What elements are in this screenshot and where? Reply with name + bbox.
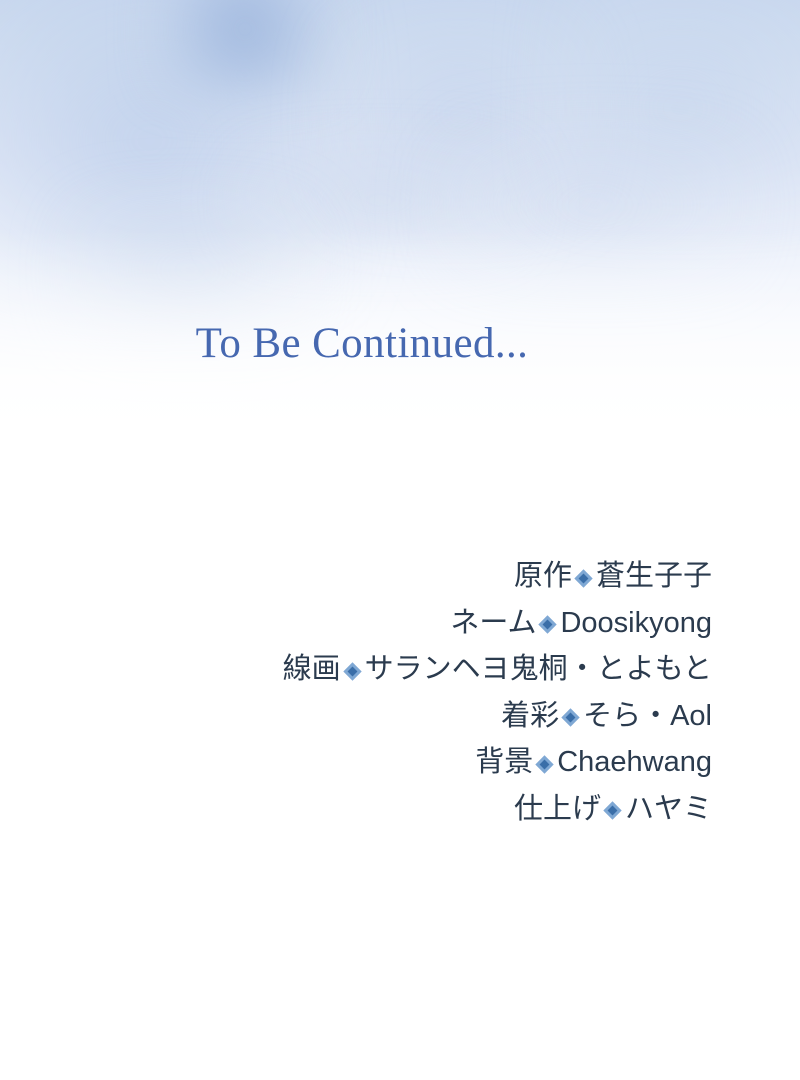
credit-role: 背景 (475, 746, 533, 778)
diamond-separator-icon (602, 795, 624, 824)
credit-row: ネームDoosikyong (0, 600, 712, 647)
diamond-separator-icon (573, 563, 595, 592)
credit-role: ネーム (450, 607, 536, 639)
credit-row: 原作蒼生子子 (0, 553, 712, 600)
credit-role: 着彩 (501, 700, 559, 732)
cloud-blob-upper-left (150, 0, 340, 95)
webtoon-end-card: To Be Continued... 原作蒼生子子 ネームDoosikyong … (0, 0, 800, 1080)
diamond-separator-icon (534, 749, 556, 778)
credit-name: Doosikyong (560, 607, 712, 639)
to-be-continued-block: To Be Continued... (0, 322, 800, 365)
credit-name: サランヘヨ鬼桐・とよもと (365, 653, 712, 685)
diamond-separator-icon (537, 609, 559, 638)
credit-row: 仕上げハヤミ (0, 786, 712, 833)
credit-role: 線画 (283, 653, 341, 685)
diamond-separator-icon (560, 702, 582, 731)
credits-block: 原作蒼生子子 ネームDoosikyong 線画サランヘヨ鬼桐・とよもと 着彩そら… (0, 553, 712, 832)
diamond-separator-icon (342, 656, 364, 685)
credit-row: 線画サランヘヨ鬼桐・とよもと (0, 646, 712, 693)
credit-name: そら・Aol (583, 700, 712, 732)
credit-row: 背景Chaehwang (0, 739, 712, 786)
credit-name: Chaehwang (557, 746, 712, 778)
credit-row: 着彩そら・Aol (0, 693, 712, 740)
to-be-continued-text: To Be Continued... (196, 322, 529, 365)
credit-role: 原作 (514, 560, 572, 592)
credit-name: ハヤミ (625, 793, 712, 825)
credit-name: 蒼生子子 (596, 560, 712, 592)
credit-role: 仕上げ (514, 793, 601, 825)
